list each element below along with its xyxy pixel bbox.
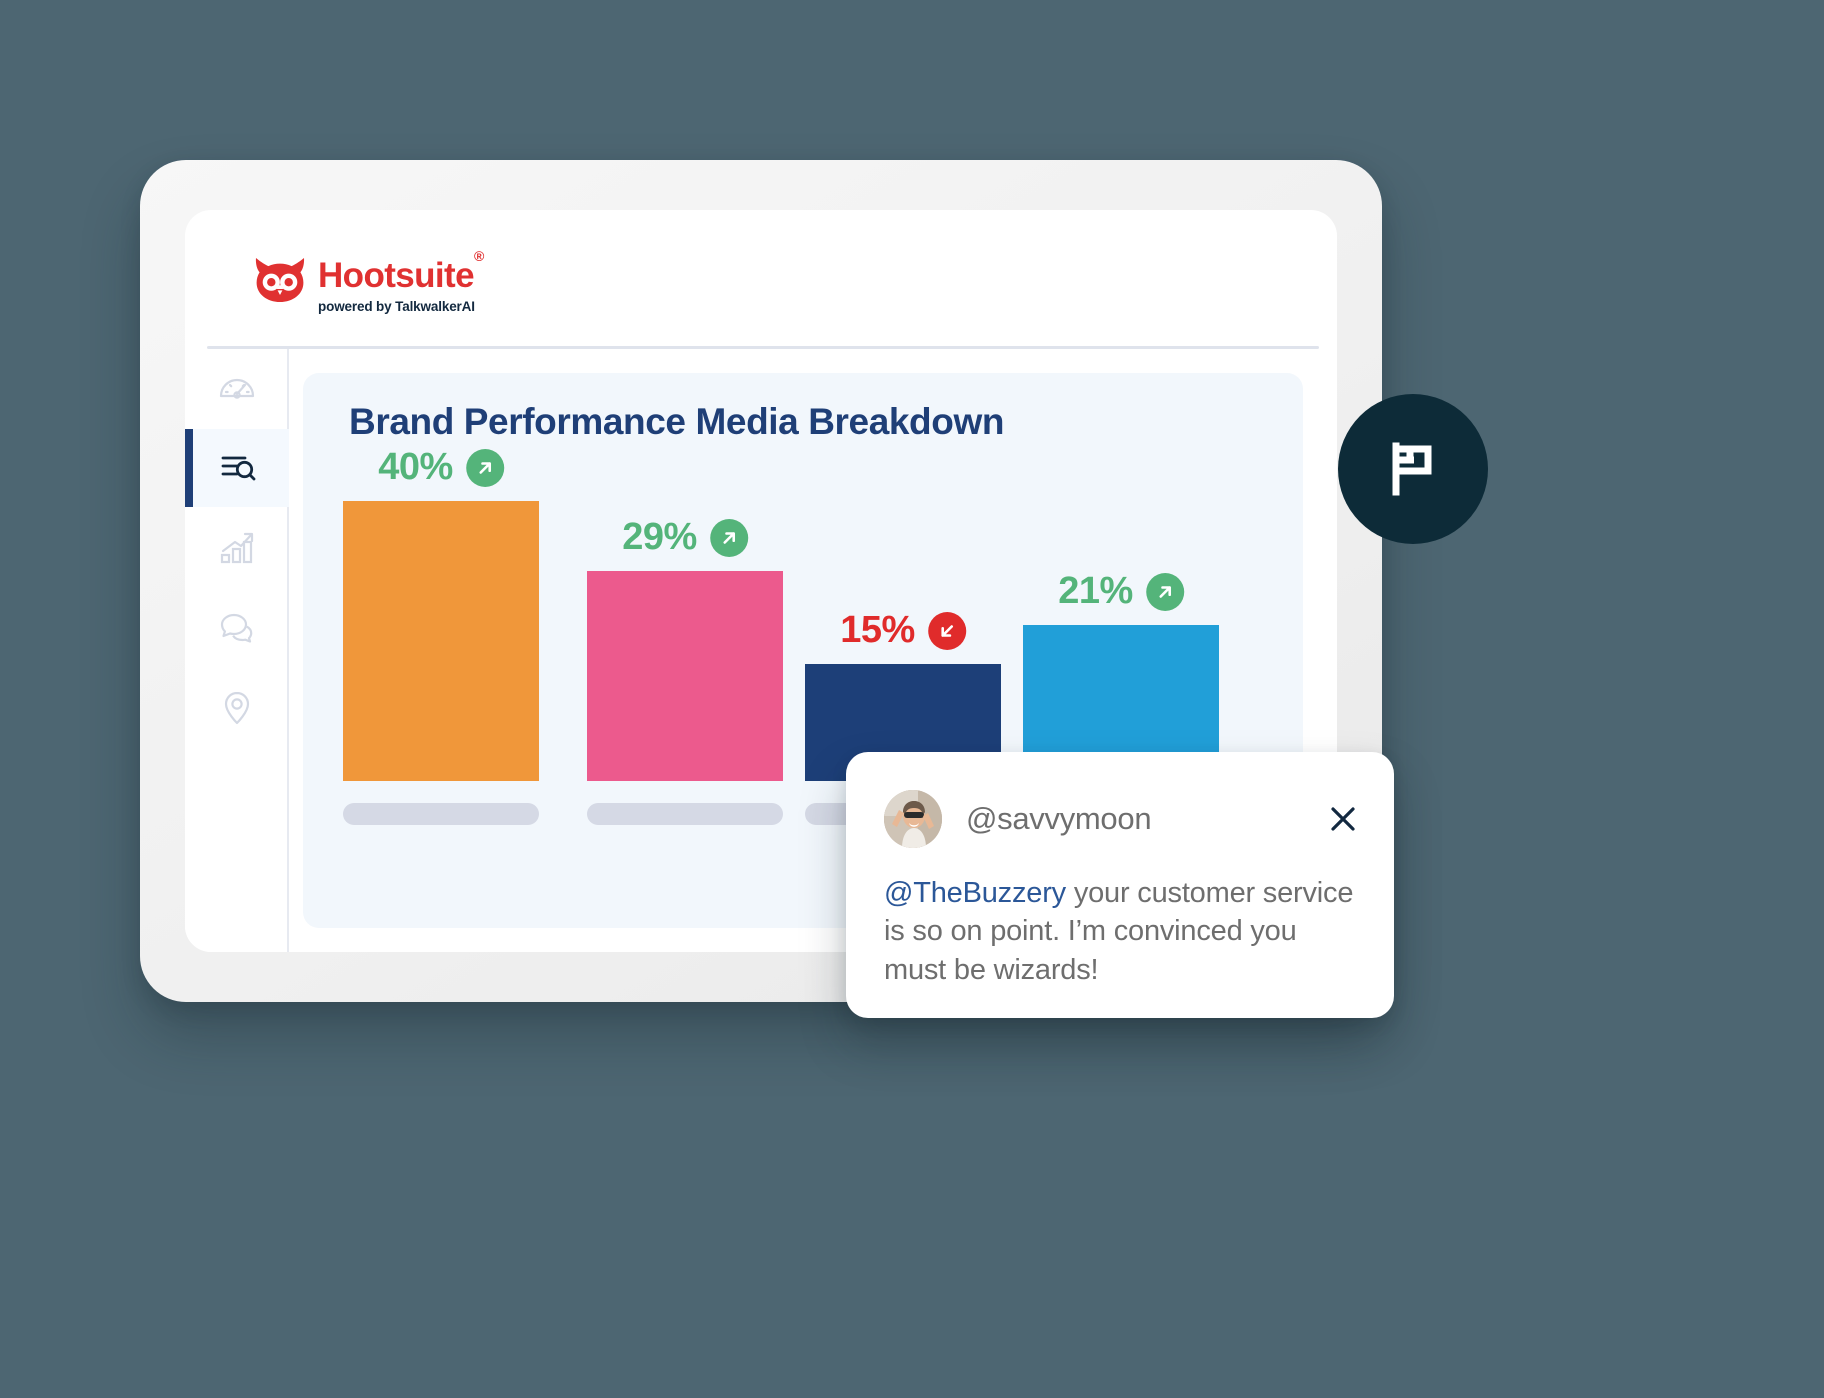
arrow-down-left-icon xyxy=(928,612,966,650)
sidebar-item-dashboard[interactable] xyxy=(185,349,289,427)
brand-tagline: powered by TalkwalkerAI xyxy=(318,299,484,314)
arrow-up-right-icon xyxy=(466,449,504,487)
bar-percent: 21% xyxy=(1058,570,1133,613)
bar-value-label: 15% xyxy=(840,609,966,652)
registered-mark: ® xyxy=(474,248,484,264)
chart-column: 29% xyxy=(587,571,783,781)
close-button[interactable] xyxy=(1326,802,1360,836)
sidebar-item-conversations[interactable] xyxy=(185,589,289,667)
flag-badge[interactable] xyxy=(1338,394,1488,544)
bar-chart-trend-icon xyxy=(216,527,258,569)
sidebar-item-analytics[interactable] xyxy=(185,509,289,587)
chart-column: 40% xyxy=(343,501,539,781)
bar-value-label: 21% xyxy=(1058,570,1184,613)
tweet-header: @savvymoon xyxy=(884,790,1360,848)
brand-name: Hootsuite® xyxy=(318,258,484,293)
bar-percent: 40% xyxy=(378,446,453,489)
tweet-handle: @savvymoon xyxy=(966,801,1151,837)
close-icon xyxy=(1329,805,1357,833)
arrow-up-right-icon xyxy=(1146,573,1184,611)
sidebar-item-search[interactable] xyxy=(185,429,289,507)
tweet-body: @TheBuzzery your customer service is so … xyxy=(884,874,1360,989)
bar-percent: 15% xyxy=(840,609,915,652)
brand-logo[interactable]: Hootsuite® powered by TalkwalkerAI xyxy=(253,256,484,314)
chart-placeholder-bar xyxy=(343,803,539,825)
chart-bar xyxy=(343,501,539,781)
app-header: Hootsuite® powered by TalkwalkerAI xyxy=(185,210,1337,346)
sidebar-item-location[interactable] xyxy=(185,669,289,747)
search-list-icon xyxy=(216,447,258,489)
chart-bar xyxy=(587,571,783,781)
tweet-mention[interactable]: @TheBuzzery xyxy=(884,877,1066,909)
chat-bubbles-icon xyxy=(216,607,258,649)
bar-percent: 29% xyxy=(622,516,697,559)
header-divider xyxy=(207,346,1319,349)
avatar xyxy=(884,790,942,848)
page-title: Brand Performance Media Breakdown xyxy=(349,401,1004,443)
bar-value-label: 29% xyxy=(622,516,748,559)
owl-icon xyxy=(253,256,307,304)
gauge-icon xyxy=(216,367,258,409)
arrow-up-right-icon xyxy=(710,519,748,557)
map-pin-icon xyxy=(216,687,258,729)
sidebar-nav xyxy=(185,349,289,952)
chart-placeholder-bar xyxy=(587,803,783,825)
bar-value-label: 40% xyxy=(378,446,504,489)
tweet-card: @savvymoon @TheBuzzery your customer ser… xyxy=(846,752,1394,1018)
flag-icon xyxy=(1382,438,1444,500)
